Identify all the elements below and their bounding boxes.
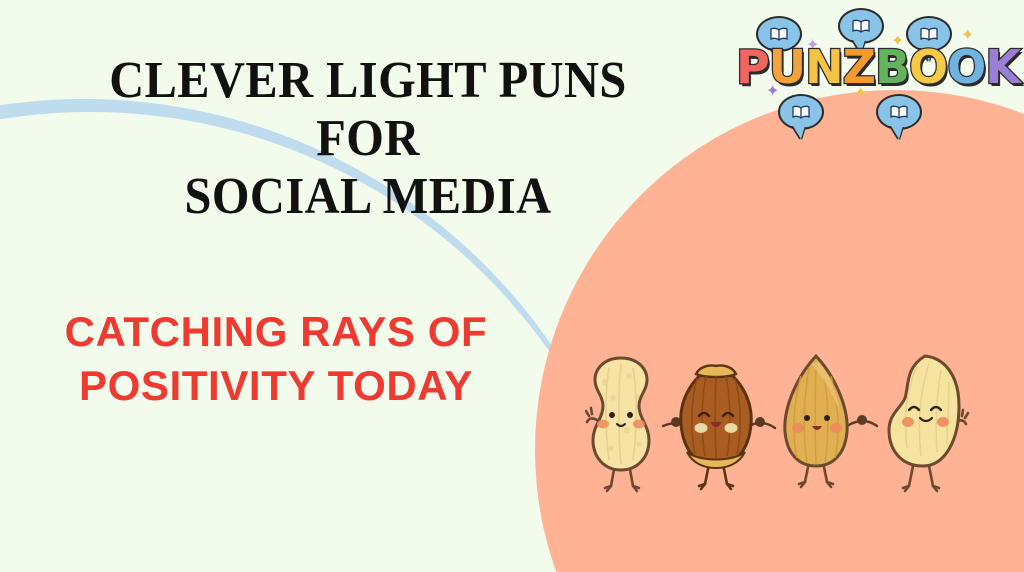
cashew-character [889, 356, 968, 491]
subhead-line-2: POSITIVITY TODAY [26, 359, 526, 413]
logo-letter-z: Z [843, 44, 875, 90]
speech-bubble-5 [876, 94, 922, 130]
page-subtitle: CATCHING RAYS OF POSITIVITY TODAY [26, 305, 526, 413]
open-book-icon [851, 19, 871, 34]
poster-canvas: CLEVER LIGHT PUNS FOR SOCIAL MEDIA CATCH… [0, 0, 1024, 572]
logo-letter-n: N [805, 44, 843, 90]
logo-letter-o2: O [947, 44, 985, 90]
logo-wordmark: PUNZBOOK [736, 44, 986, 90]
almond-character [785, 356, 847, 487]
logo-letter-k: K [985, 44, 1020, 90]
open-book-icon [889, 105, 909, 120]
speech-bubble-2 [838, 8, 884, 44]
logo-letter-u: U [769, 44, 805, 90]
logo-letter-p: P [736, 44, 769, 90]
speech-bubble-4 [778, 94, 824, 130]
punzbook-logo[interactable]: ✦ ✦ ✦ ✦ ✦ PUNZBOOK [736, 6, 986, 126]
headline-line-2: SOCIAL MEDIA [61, 168, 675, 226]
hazelnut-character [681, 365, 751, 489]
peanut-character [586, 358, 649, 491]
subhead-line-1: CATCHING RAYS OF [26, 305, 526, 359]
logo-letter-b: B [875, 44, 909, 90]
open-book-icon [791, 105, 811, 120]
nut-characters-illustration [585, 352, 1005, 512]
headline-line-1: CLEVER LIGHT PUNS FOR [61, 52, 675, 168]
logo-letter-o1: O [909, 44, 947, 90]
page-title: CLEVER LIGHT PUNS FOR SOCIAL MEDIA [61, 52, 675, 227]
